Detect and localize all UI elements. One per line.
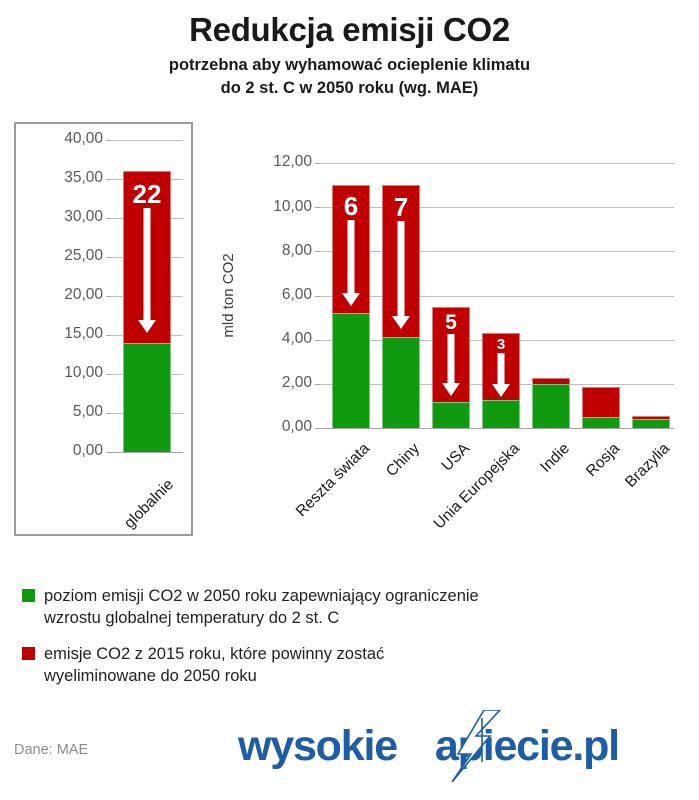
logo-text-part1: wysokie — [238, 722, 397, 770]
y-tick-mark — [315, 428, 320, 429]
down-arrow-icon — [391, 221, 411, 329]
bar-segment-green — [532, 384, 570, 428]
bar-brazylia[interactable] — [632, 163, 670, 428]
bar-segment-green — [632, 419, 670, 428]
y-axis-tick-label: 6,00 — [242, 286, 312, 304]
legend-label-line-1: emisje CO2 z 2015 roku, które powinny zo… — [44, 643, 674, 665]
legend: poziom emisji CO2 w 2050 roku zapewniają… — [14, 585, 674, 701]
y-axis-tick-label: 4,00 — [242, 330, 312, 348]
bar-indie[interactable] — [532, 163, 570, 428]
y-tick-mark — [315, 207, 320, 208]
y-tick-mark — [315, 163, 320, 164]
y-tick-mark — [315, 251, 320, 252]
y-tick-mark — [315, 296, 320, 297]
bar-reszta-świata[interactable]: 6 — [332, 163, 370, 428]
bar-value-label: 6 — [332, 191, 370, 222]
bar-segment-green — [482, 400, 520, 428]
y-axis-title: mld ton CO2 — [220, 163, 237, 428]
down-arrow-icon — [441, 334, 461, 396]
bar-rosja[interactable] — [582, 163, 620, 428]
bar-unia-europejska[interactable]: 3 — [482, 163, 520, 428]
bar-value-label: 3 — [482, 336, 520, 353]
bar-segment-green — [382, 337, 420, 428]
y-tick-mark — [315, 384, 320, 385]
y-axis-tick-label: 2,00 — [242, 374, 312, 392]
legend-swatch-green — [22, 589, 35, 602]
bar-segment-green — [332, 313, 370, 428]
legend-label-line-1: poziom emisji CO2 w 2050 roku zapewniają… — [44, 585, 674, 607]
legend-item[interactable]: emisje CO2 z 2015 roku, które powinny zo… — [14, 643, 674, 687]
y-tick-mark — [315, 340, 320, 341]
lightning-bolt-icon — [438, 710, 516, 782]
bar-segment-red — [582, 387, 620, 417]
legend-item[interactable]: poziom emisji CO2 w 2050 roku zapewniają… — [14, 585, 674, 629]
legend-swatch-red — [22, 647, 35, 660]
bar-segment-green — [582, 417, 620, 428]
bar-chiny[interactable]: 7 — [382, 163, 420, 428]
bar-value-label: 7 — [382, 192, 420, 223]
legend-label-line-2: wyeliminowane do 2050 roku — [44, 665, 674, 687]
wysokienapiecie-logo[interactable]: wysokieapiecie.pl — [238, 716, 683, 778]
bar-usa[interactable]: 5 — [432, 163, 470, 428]
y-axis-tick-label: 0,00 — [242, 418, 312, 436]
y-axis-tick-label: 10,00 — [242, 198, 312, 216]
y-axis-tick-label: 8,00 — [242, 242, 312, 260]
y-axis-tick-label: 12,00 — [242, 153, 312, 171]
countries-chart: 0,002,004,006,008,0010,0012,00mld ton CO… — [0, 0, 699, 560]
legend-label-line-2: wzrostu globalnej temperatury do 2 st. C — [44, 607, 674, 629]
countries-chart-plot-area: 0,002,004,006,008,0010,0012,00mld ton CO… — [320, 163, 674, 428]
bar-value-label: 5 — [432, 311, 470, 335]
down-arrow-icon — [491, 353, 511, 397]
source-note: Dane: MAE — [14, 742, 88, 758]
down-arrow-icon — [341, 220, 361, 306]
bar-segment-green — [432, 402, 470, 428]
gridline — [320, 428, 674, 429]
